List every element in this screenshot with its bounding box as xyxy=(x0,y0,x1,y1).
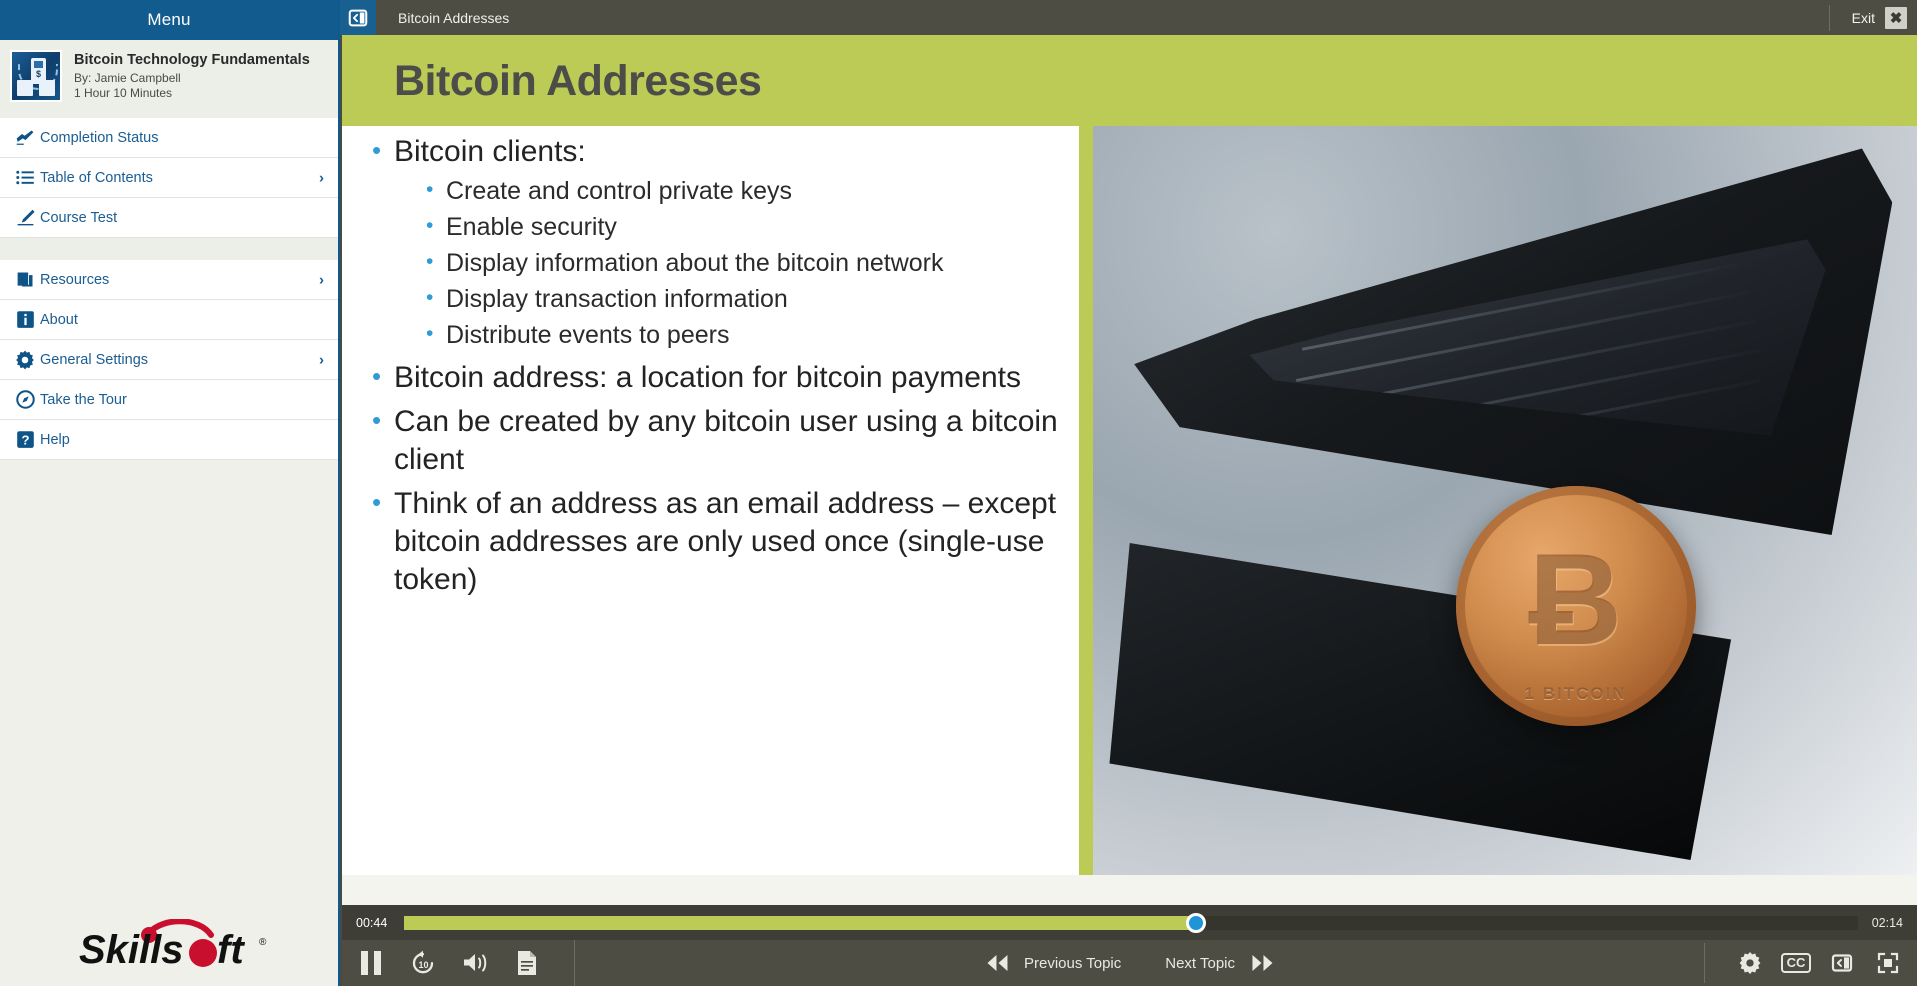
sub-bullet-item: Create and control private keys xyxy=(420,173,1104,209)
closed-captions-button[interactable]: CC xyxy=(1779,946,1813,980)
rewind-10-button[interactable]: 10 xyxy=(400,940,446,986)
controls-right-group: CC xyxy=(1704,943,1917,983)
sidebar-item-general-settings[interactable]: General Settings › xyxy=(0,340,338,380)
bullet-text: Can be created by any bitcoin user using… xyxy=(394,403,1104,479)
sub-bullet-text: Distribute events to peers xyxy=(446,321,729,349)
chevron-right-icon: › xyxy=(319,271,324,288)
documents-icon xyxy=(10,269,40,290)
transcript-button[interactable] xyxy=(504,940,550,986)
close-icon[interactable]: ✖ xyxy=(1885,7,1907,29)
svg-text:10: 10 xyxy=(418,960,428,970)
sub-bullet-item: Enable security xyxy=(420,209,1104,245)
coin-label: 1 BITCOIN xyxy=(1456,684,1696,704)
topbar-title: Bitcoin Addresses xyxy=(398,10,509,26)
divider xyxy=(1704,943,1705,983)
divider xyxy=(1829,5,1830,31)
skillsoft-logo: Skills ft ® xyxy=(0,910,338,986)
chevron-right-icon: › xyxy=(319,169,324,186)
next-icon xyxy=(1249,953,1275,973)
controls-left-group: 10 xyxy=(342,940,575,986)
svg-text:®: ® xyxy=(259,937,267,948)
sidebar: Menu Bitcoin Technology Fundamentals By:… xyxy=(0,0,340,986)
course-duration: 1 Hour 10 Minutes xyxy=(74,86,310,100)
bullet-text: Bitcoin address: a location for bitcoin … xyxy=(394,359,1104,397)
bullet-item: Bitcoin clients: Create and control priv… xyxy=(364,133,1104,353)
bitcoin-coin-icon: Ƀ 1 BITCOIN xyxy=(1456,486,1696,726)
gear-icon xyxy=(1737,950,1763,976)
bullet-item: Can be created by any bitcoin user using… xyxy=(364,403,1104,479)
slide-image-region: Ƀ 1 BITCOIN xyxy=(1079,126,1917,875)
sidebar-item-label: General Settings xyxy=(40,352,148,368)
slide-title: Bitcoin Addresses xyxy=(394,57,761,106)
slide: Bitcoin Addresses Bitcoin clients: Creat… xyxy=(342,35,1917,875)
topic-navigation: Previous Topic Next Topic xyxy=(984,953,1275,973)
bitcoin-symbol: Ƀ xyxy=(1529,534,1623,664)
sidebar-item-label: Help xyxy=(40,432,70,448)
svg-text:ft: ft xyxy=(217,928,245,972)
compass-icon xyxy=(10,389,40,410)
progress-handle[interactable] xyxy=(1186,913,1206,933)
pencil-icon xyxy=(10,207,40,228)
progress-fill xyxy=(404,916,1196,930)
sidebar-divider xyxy=(0,238,338,260)
bullet-item: Think of an address as an email address … xyxy=(364,485,1104,599)
volume-button[interactable] xyxy=(452,940,498,986)
progress-slider[interactable] xyxy=(404,916,1858,930)
time-elapsed: 00:44 xyxy=(356,916,398,930)
sidebar-spacer xyxy=(0,460,338,910)
svg-text:Skills: Skills xyxy=(79,928,184,972)
divider xyxy=(574,940,575,986)
course-card: Bitcoin Technology Fundamentals By: Jami… xyxy=(0,40,338,118)
next-topic-label: Next Topic xyxy=(1165,955,1235,972)
sidebar-item-table-of-contents[interactable]: Table of Contents › xyxy=(0,158,338,198)
sidebar-item-label: Table of Contents xyxy=(40,170,153,186)
sidebar-item-label: About xyxy=(40,312,78,328)
sub-bullet-text: Enable security xyxy=(446,213,617,241)
image-accent-bar xyxy=(1079,126,1093,875)
collapse-panel-icon xyxy=(1830,951,1854,975)
bitcoin-mobile-thumbnail-icon xyxy=(10,50,62,102)
sidebar-item-take-the-tour[interactable]: Take the Tour xyxy=(0,380,338,420)
slide-stage: Bitcoin Addresses Bitcoin clients: Creat… xyxy=(342,35,1917,905)
gear-icon xyxy=(10,349,40,371)
sub-bullet-item: Display information about the bitcoin ne… xyxy=(420,245,1104,281)
previous-topic-label: Previous Topic xyxy=(1024,955,1121,972)
menu-title: Menu xyxy=(147,10,190,30)
question-icon: ? xyxy=(10,429,40,450)
course-title: Bitcoin Technology Fundamentals xyxy=(74,51,310,69)
sidebar-item-course-test[interactable]: Course Test xyxy=(0,198,338,238)
sub-bullet-text: Display information about the bitcoin ne… xyxy=(446,249,944,277)
chevron-right-icon: › xyxy=(319,351,324,368)
sidebar-nav-primary: Completion Status Table of Contents › xyxy=(0,118,338,238)
previous-icon xyxy=(984,953,1010,973)
bitcoin-wallet-photo: Ƀ 1 BITCOIN xyxy=(1093,126,1917,875)
info-icon xyxy=(10,309,40,330)
menu-header[interactable]: Menu xyxy=(0,0,338,40)
fullscreen-button[interactable] xyxy=(1871,946,1905,980)
top-bar: Bitcoin Addresses Exit ✖ xyxy=(340,0,1917,35)
skillsoft-logo-mark: Skills ft ® xyxy=(71,919,267,973)
course-player-window: Menu Bitcoin Technology Fundamentals By:… xyxy=(0,0,1917,986)
bullet-text: Bitcoin clients: xyxy=(394,133,1104,171)
next-topic-button[interactable]: Next Topic xyxy=(1165,953,1275,973)
flag-icon xyxy=(10,127,40,148)
bullet-item: Bitcoin address: a location for bitcoin … xyxy=(364,359,1104,397)
course-author: By: Jamie Campbell xyxy=(74,71,310,85)
controls-row: 10 xyxy=(342,940,1917,986)
sub-bullet-text: Create and control private keys xyxy=(446,177,792,205)
sidebar-item-completion-status[interactable]: Completion Status xyxy=(0,118,338,158)
toggle-sidebar-button[interactable] xyxy=(1825,946,1859,980)
player-bar: 00:44 02:14 10 xyxy=(342,905,1917,986)
sidebar-item-label: Completion Status xyxy=(40,130,158,146)
sidebar-item-label: Take the Tour xyxy=(40,392,127,408)
time-total: 02:14 xyxy=(1872,916,1903,930)
collapse-panel-icon[interactable] xyxy=(340,0,376,35)
sidebar-nav-secondary: Resources › About General Settings › xyxy=(0,260,338,460)
sidebar-item-about[interactable]: About xyxy=(0,300,338,340)
sidebar-item-resources[interactable]: Resources › xyxy=(0,260,338,300)
sidebar-item-label: Resources xyxy=(40,272,109,288)
settings-button[interactable] xyxy=(1733,946,1767,980)
previous-topic-button[interactable]: Previous Topic xyxy=(984,953,1121,973)
fullscreen-icon xyxy=(1876,951,1900,975)
cc-icon: CC xyxy=(1781,953,1812,973)
sidebar-item-help[interactable]: ? Help xyxy=(0,420,338,460)
exit-button[interactable]: Exit xyxy=(1852,10,1875,26)
sub-bullet-text: Display transaction information xyxy=(446,285,788,313)
scrubber-row: 00:44 02:14 xyxy=(342,905,1917,940)
pause-button[interactable] xyxy=(348,940,394,986)
slide-bullet-list: Bitcoin clients: Create and control priv… xyxy=(364,133,1104,605)
sub-bullet-item: Display transaction information xyxy=(420,281,1104,317)
svg-text:?: ? xyxy=(21,432,29,447)
bullet-text: Think of an address as an email address … xyxy=(394,485,1104,599)
sub-bullet-item: Distribute events to peers xyxy=(420,317,1104,353)
sidebar-item-label: Course Test xyxy=(40,210,117,226)
list-icon xyxy=(10,167,40,188)
topbar-right-group: Exit ✖ xyxy=(1829,0,1917,35)
